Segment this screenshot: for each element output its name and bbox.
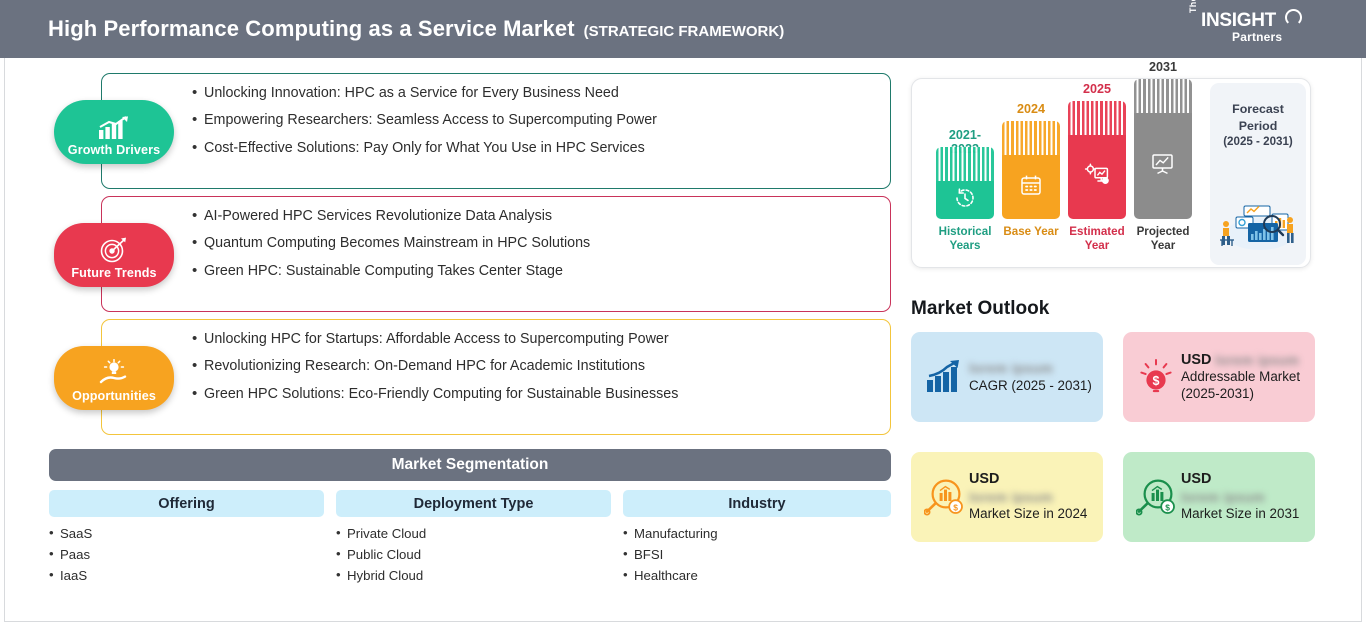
outlook-usd-label: USD: [1181, 471, 1211, 487]
chart-bar-year-label: 2024: [1002, 102, 1060, 116]
segmentation-column-title: Offering: [49, 490, 324, 517]
page-title: High Performance Computing as a Service …: [48, 16, 575, 42]
forecast-period-chart: 2021-2023 Historical Years: [911, 78, 1311, 268]
chart-bar: [936, 147, 994, 219]
svg-text:$: $: [953, 502, 958, 512]
outlook-card-text: USD lorem ipsum Market Size in 2024: [967, 471, 1093, 522]
list-item: Quantum Computing Becomes Mainstream in …: [192, 236, 890, 250]
page-subtitle: (STRATEGIC FRAMEWORK): [584, 23, 785, 40]
chart-bar: [1134, 79, 1192, 219]
chart-bar-stripes: [1002, 121, 1060, 155]
outlook-card-cagr[interactable]: lorem ipsum CAGR (2025 - 2031): [911, 332, 1103, 422]
magnifier-chart-icon: $: [921, 478, 967, 516]
list-item: Manufacturing: [623, 526, 891, 541]
segmentation-items: Manufacturing BFSI Healthcare: [623, 526, 891, 583]
outlook-card-market-size-2024[interactable]: $ USD lorem ipsum Market Size in 2024: [911, 452, 1103, 542]
analytics-team-illustration: [1214, 190, 1302, 257]
lightbulb-hand-icon: [98, 360, 130, 386]
chart-bar-stripes: [1068, 101, 1126, 135]
chart-bar-caption: Projected Year: [1134, 225, 1192, 252]
list-item: Unlocking Innovation: HPC as a Service f…: [192, 86, 890, 100]
badge-label: Opportunities: [72, 389, 156, 403]
list-item: Unlocking HPC for Startups: Affordable A…: [192, 332, 890, 346]
list-item: Cost-Effective Solutions: Pay Only for W…: [192, 141, 890, 155]
outlook-value-blurred: lorem ipsum: [969, 490, 1053, 506]
segmentation-items: SaaS Paas IaaS: [49, 526, 324, 583]
outlook-card-label: CAGR (2025 - 2031): [969, 378, 1092, 393]
segmentation-column-deployment-type: Deployment Type Private Cloud Public Clo…: [336, 490, 611, 589]
segmentation-column-title: Industry: [623, 490, 891, 517]
bar-chart-growth-icon: [97, 114, 131, 140]
list-item: Hybrid Cloud: [336, 568, 611, 583]
outlook-card-label: Market Size in 2031: [1181, 506, 1299, 521]
opportunities-list: Unlocking HPC for Startups: Affordable A…: [102, 320, 890, 401]
outlook-card-label: Addressable Market (2025-2031): [1181, 369, 1300, 400]
future-trends-list: AI-Powered HPC Services Revolutionize Da…: [102, 197, 890, 278]
segmentation-column-industry: Industry Manufacturing BFSI Healthcare: [623, 490, 891, 589]
bar-chart-arrow-icon: [921, 360, 967, 394]
chart-bar-group-base: 2024: [1002, 121, 1060, 219]
outlook-card-addressable-market[interactable]: $ USD lorem ipsum Addressable Market (20…: [1123, 332, 1315, 422]
chart-bar: [1068, 101, 1126, 219]
logo-ring-icon: [1285, 9, 1302, 26]
content-frame: Growth Drivers Unlocking Innovation: HPC…: [4, 58, 1362, 622]
forecast-range: (2025 - 2031): [1210, 134, 1306, 150]
chart-bar-year-label: 2025: [1068, 82, 1126, 96]
list-item: Private Cloud: [336, 526, 611, 541]
chart-bar-solid: [936, 181, 994, 219]
svg-text:$: $: [1165, 502, 1170, 512]
badge-future-trends[interactable]: Future Trends: [54, 223, 174, 287]
segmentation-column-title: Deployment Type: [336, 490, 611, 517]
logo-insight-text: INSIGHT: [1201, 10, 1276, 32]
market-segmentation-header: Market Segmentation: [49, 449, 891, 481]
chart-bar-caption: Estimated Year: [1068, 225, 1126, 252]
list-item: BFSI: [623, 547, 891, 562]
clock-history-icon: [953, 186, 977, 215]
chart-bar-caption: Historical Years: [936, 225, 994, 252]
badge-label: Future Trends: [71, 266, 156, 280]
outlook-value-blurred: lorem ipsum: [1215, 353, 1299, 369]
logo-the-text: The: [1188, 0, 1198, 13]
page-header: High Performance Computing as a Service …: [0, 0, 1366, 58]
market-outlook-title: Market Outlook: [911, 298, 1049, 320]
list-item: IaaS: [49, 568, 324, 583]
segmentation-column-offering: Offering SaaS Paas IaaS: [49, 490, 324, 589]
badge-growth-drivers[interactable]: Growth Drivers: [54, 100, 174, 164]
outlook-value-blurred: lorem ipsum: [1181, 490, 1265, 506]
chart-bar-group-projected: 2031 Projected Ye: [1134, 79, 1192, 219]
forecast-period-text: Forecast Period (2025 - 2031): [1210, 101, 1306, 150]
forecast-line-2: Period: [1210, 118, 1306, 135]
list-item: Green HPC: Sustainable Computing Takes C…: [192, 264, 890, 278]
chart-bar-year-label: 2031: [1134, 60, 1192, 74]
panel-future-trends: Future Trends AI-Powered HPC Services Re…: [101, 196, 891, 312]
chart-bar-stripes: [1134, 79, 1192, 113]
badge-label: Growth Drivers: [68, 143, 160, 157]
list-item: Green HPC Solutions: Eco-Friendly Comput…: [192, 387, 890, 401]
chart-bar-solid: [1134, 113, 1192, 219]
infographic-page: High Performance Computing as a Service …: [0, 0, 1366, 626]
list-item: SaaS: [49, 526, 324, 541]
outlook-card-text: lorem ipsum CAGR (2025 - 2031): [967, 360, 1093, 394]
magnifier-chart-icon: $: [1133, 478, 1179, 516]
chart-bar: [1002, 121, 1060, 219]
list-item: Empowering Researchers: Seamless Access …: [192, 113, 890, 127]
outlook-card-label: Market Size in 2024: [969, 506, 1087, 521]
insight-partners-logo: The INSIGHT Partners: [1188, 9, 1308, 49]
chart-bar-group-historical: 2021-2023 Historical Years: [936, 147, 994, 219]
presentation-chart-icon: [1150, 152, 1176, 181]
list-item: Revolutionizing Research: On-Demand HPC …: [192, 359, 890, 373]
outlook-value-blurred: lorem ipsum: [969, 361, 1053, 377]
outlook-card-text: USD lorem ipsum Market Size in 2031: [1179, 471, 1305, 522]
badge-opportunities[interactable]: Opportunities: [54, 346, 174, 410]
list-item: Paas: [49, 547, 324, 562]
outlook-card-market-size-2031[interactable]: $ USD lorem ipsum Market Size in 2031: [1123, 452, 1315, 542]
forecast-line-1: Forecast: [1210, 101, 1306, 118]
chart-bar-stripes: [936, 147, 994, 181]
header-title-group: High Performance Computing as a Service …: [48, 16, 784, 42]
growth-drivers-list: Unlocking Innovation: HPC as a Service f…: [102, 74, 890, 155]
outlook-usd-label: USD: [969, 471, 999, 487]
chart-bar-group-estimated: 2025: [1068, 101, 1126, 219]
forecast-period-side-panel: Forecast Period (2025 - 2031): [1210, 83, 1306, 265]
outlook-usd-label: USD: [1181, 352, 1211, 368]
segmentation-items: Private Cloud Public Cloud Hybrid Cloud: [336, 526, 611, 583]
chart-bar-solid: [1068, 135, 1126, 219]
logo-partners-text: Partners: [1232, 30, 1282, 44]
chart-bar-solid: [1002, 155, 1060, 219]
target-dart-icon: [99, 237, 129, 263]
lightbulb-dollar-icon: $: [1133, 359, 1179, 395]
panel-opportunities: Opportunities Unlocking HPC for Startups…: [101, 319, 891, 435]
list-item: Healthcare: [623, 568, 891, 583]
svg-text:$: $: [1153, 374, 1160, 388]
calendar-icon: [1019, 173, 1043, 202]
gear-chart-icon: [1084, 163, 1110, 192]
outlook-card-text: USD lorem ipsum Addressable Market (2025…: [1179, 352, 1305, 402]
list-item: AI-Powered HPC Services Revolutionize Da…: [192, 209, 890, 223]
list-item: Public Cloud: [336, 547, 611, 562]
panel-growth-drivers: Growth Drivers Unlocking Innovation: HPC…: [101, 73, 891, 189]
chart-bar-caption: Base Year: [1002, 225, 1060, 239]
